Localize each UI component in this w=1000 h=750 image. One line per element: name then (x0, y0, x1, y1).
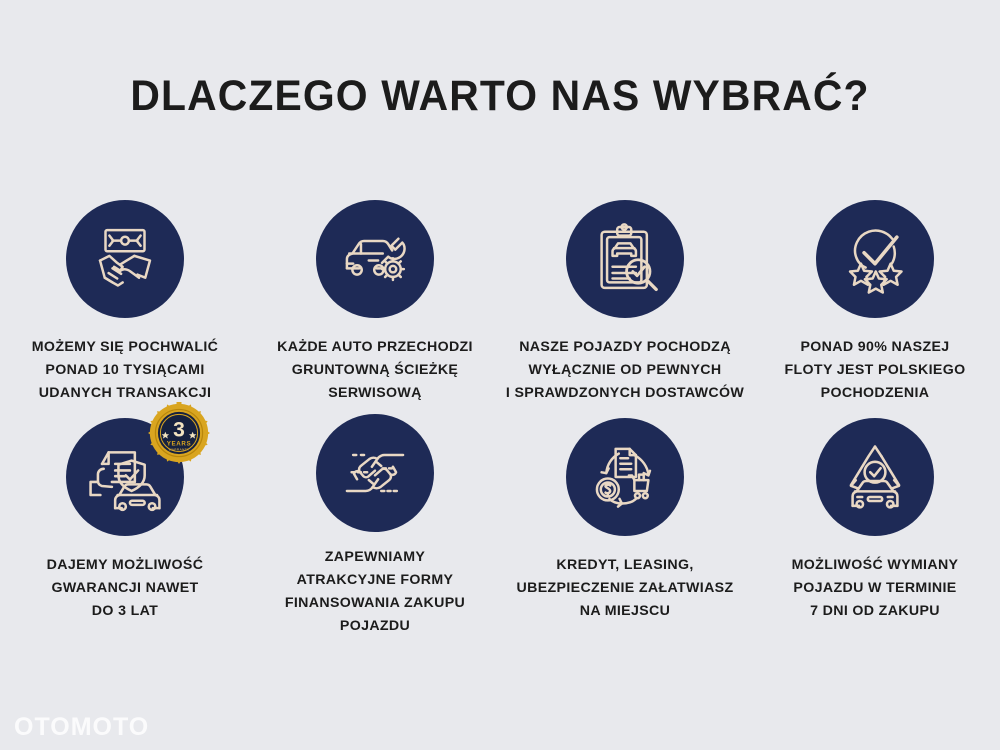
feature-caption: ZAPEWNIAMY ATRAKCYJNE FORMY FINANSOWANIA… (249, 546, 501, 638)
badge-unit: YEARS (167, 440, 191, 447)
icon-wrap (812, 196, 938, 322)
icon-wrap (562, 414, 688, 540)
car-wrench-gear-icon (316, 200, 434, 318)
feature-card: NASZE POJAZDY POCHODZĄ WYŁĄCZNIE OD PEWN… (500, 196, 750, 414)
feature-caption: MOŻLIWOŚĆ WYMIANY POJAZDU W TERMINIE 7 D… (749, 554, 1000, 623)
feature-card: MOŻEMY SIĘ POCHWALIĆ PONAD 10 TYSIĄCAMI … (0, 196, 250, 414)
badge-sub: WARRANTY (169, 447, 190, 451)
warranty-badge-3-years: 3 YEARS WARRANTY (148, 402, 210, 464)
icon-wrap (62, 196, 188, 322)
icon-wrap: 3 YEARS WARRANTY (62, 414, 188, 540)
page-title: DLACZEGO WARTO NAS WYBRAĆ? (25, 0, 975, 121)
icon-wrap (312, 196, 438, 322)
hands-exchange-card-icon (316, 414, 434, 532)
feature-caption: DAJEMY MOŻLIWOŚĆ GWARANCJI NAWET DO 3 LA… (0, 554, 251, 623)
feature-card: KAŻDE AUTO PRZECHODZI GRUNTOWNĄ ŚCIEŻKĘ … (250, 196, 500, 414)
clipboard-car-magnifier-icon (566, 200, 684, 318)
document-cart-coin-cycle-icon (566, 418, 684, 536)
feature-caption: KAŻDE AUTO PRZECHODZI GRUNTOWNĄ ŚCIEŻKĘ … (249, 336, 501, 405)
feature-card: MOŻLIWOŚĆ WYMIANY POJAZDU W TERMINIE 7 D… (750, 414, 1000, 632)
badge-number: 3 (173, 419, 185, 442)
feature-card: 3 YEARS WARRANTY DAJEMY MOŻLIWOŚĆ GWARAN… (0, 414, 250, 632)
car-exchange-check-icon (816, 418, 934, 536)
icon-wrap (812, 414, 938, 540)
icon-wrap (562, 196, 688, 322)
feature-caption: MOŻEMY SIĘ POCHWALIĆ PONAD 10 TYSIĄCAMI … (0, 336, 251, 405)
otomoto-watermark: OTOMOTO (14, 713, 149, 742)
feature-caption: NASZE POJAZDY POCHODZĄ WYŁĄCZNIE OD PEWN… (491, 336, 759, 405)
feature-card: PONAD 90% NASZEJ FLOTY JEST POLSKIEGO PO… (750, 196, 1000, 414)
icon-wrap (312, 414, 438, 532)
feature-card: ZAPEWNIAMY ATRAKCYJNE FORMY FINANSOWANIA… (250, 414, 500, 632)
feature-caption: PONAD 90% NASZEJ FLOTY JEST POLSKIEGO PO… (749, 336, 1000, 405)
check-stars-icon (816, 200, 934, 318)
feature-caption: KREDYT, LEASING, UBEZPIECZENIE ZAŁATWIAS… (491, 554, 759, 623)
feature-card: KREDYT, LEASING, UBEZPIECZENIE ZAŁATWIAS… (500, 414, 750, 632)
handshake-banknote-icon (66, 200, 184, 318)
feature-grid: MOŻEMY SIĘ POCHWALIĆ PONAD 10 TYSIĄCAMI … (0, 196, 1000, 632)
